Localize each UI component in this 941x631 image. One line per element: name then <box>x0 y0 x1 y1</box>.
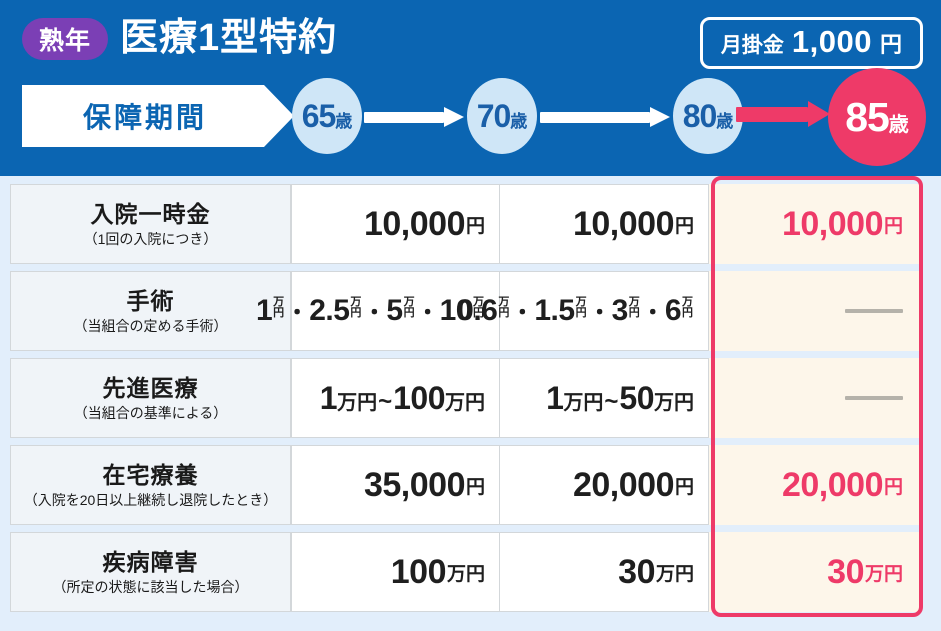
milestone-age-suffix: 歳 <box>716 84 733 160</box>
range-to-unit: 万円 <box>445 386 485 415</box>
value-unit: 円 <box>466 472 485 499</box>
table-row: 疾病障害 （所定の状態に該当した場合） 100万円 30万円 30万円 <box>10 532 931 612</box>
arrow-head <box>444 107 464 127</box>
coverage-timeline: 保障期間 65 歳 70 歳 80 歳 <box>0 78 941 174</box>
value-number: 3 <box>612 294 628 328</box>
benefit-sublabel: （当組合の基準による） <box>74 403 228 423</box>
value-separator: ・ <box>286 295 308 327</box>
arrow-head <box>650 107 670 127</box>
value-separator: ・ <box>363 295 385 327</box>
benefit-value-col2: 20,000円 <box>500 445 709 525</box>
milestone-age-suffix: 歳 <box>335 84 352 160</box>
milestone-age-number: 70 <box>477 78 511 154</box>
milestone-age-suffix: 歳 <box>889 76 909 174</box>
benefit-value-col1: 100万円 <box>291 532 500 612</box>
value-unit-stacked: 万円 <box>498 297 509 319</box>
timeline-milestone-80: 80 歳 <box>673 78 743 154</box>
value-range: 1万円~50万円 <box>546 380 694 417</box>
value-separator: ・ <box>642 295 664 327</box>
value-number: 10,000 <box>782 205 883 244</box>
benefit-label: 手術 <box>127 287 175 315</box>
value-number: 0.6 <box>457 294 497 328</box>
benefit-value-col3-highlighted: 10,000円 <box>709 184 919 264</box>
benefit-label-cell: 入院一時金 （1回の入院につき） <box>10 184 291 264</box>
value-unit-stacked: 万円 <box>629 297 640 319</box>
value-unit: 円 <box>675 472 694 499</box>
monthly-premium-box: 月掛金 1,000 円 <box>700 17 923 69</box>
value-unit: 円 <box>884 211 903 238</box>
value-unit-stacked: 万円 <box>350 297 361 319</box>
unit-yen: 円 <box>498 308 509 319</box>
value-separator: ・ <box>589 295 611 327</box>
range-tilde: ~ <box>378 388 392 416</box>
arrow-shaft <box>364 112 444 123</box>
value-number: 20,000 <box>573 466 674 505</box>
benefit-value-col1: 10,000円 <box>291 184 500 264</box>
timeline-arrow-65-to-70-icon <box>364 107 464 127</box>
benefit-sublabel: （当組合の定める手術） <box>74 316 228 336</box>
timeline-milestone-65: 65 歳 <box>292 78 362 154</box>
benefit-sublabel: （所定の状態に該当した場合） <box>53 577 249 597</box>
range-tilde: ~ <box>604 388 618 416</box>
timeline-arrow-70-to-80-icon <box>540 107 670 127</box>
benefit-value-col3-highlighted: 20,000円 <box>709 445 919 525</box>
benefit-label-cell: 疾病障害 （所定の状態に該当した場合） <box>10 532 291 612</box>
benefit-value-col3-highlighted: 30万円 <box>709 532 919 612</box>
value-range: 1万円~100万円 <box>320 380 485 417</box>
value-separator: ・ <box>511 295 533 327</box>
value-number: 6 <box>665 294 681 328</box>
monthly-premium-label: 月掛金 <box>721 29 784 59</box>
value-unit: 円 <box>675 211 694 238</box>
unit-yen: 円 <box>629 308 640 319</box>
value-number: 2.5 <box>309 294 349 328</box>
value-unit: 万円 <box>656 559 694 586</box>
value-number: 10,000 <box>573 205 674 244</box>
value-number: 30 <box>827 553 864 592</box>
table-row: 入院一時金 （1回の入院につき） 10,000円 10,000円 10,000円 <box>10 184 931 264</box>
value-amount-list: 1万円・2.5万円・5万円・10万円 <box>256 294 485 328</box>
no-benefit-dash-icon <box>845 396 903 400</box>
benefit-value-col3-highlighted <box>709 271 919 351</box>
no-benefit-dash-icon <box>845 309 903 313</box>
unit-yen: 円 <box>404 308 415 319</box>
benefit-label-cell: 手術 （当組合の定める手術） <box>10 271 291 351</box>
unit-yen: 円 <box>350 308 361 319</box>
benefit-label-cell: 在宅療養 （入院を20日以上継続し退院したとき） <box>10 445 291 525</box>
benefit-label: 疾病障害 <box>103 548 199 576</box>
timeline-arrow-80-to-85-icon <box>736 104 830 124</box>
value-number: 1 <box>256 294 272 328</box>
unit-yen: 円 <box>576 308 587 319</box>
insurance-benefit-card: 熟年 医療1型特約 月掛金 1,000 円 保障期間 65 歳 70 歳 <box>0 0 941 631</box>
page-title: 医療1型特約 <box>120 12 337 64</box>
monthly-premium-unit: 円 <box>880 27 902 59</box>
coverage-period-banner: 保障期間 <box>22 85 294 147</box>
benefit-value-col2: 0.6万円・1.5万円・3万円・6万円 <box>500 271 709 351</box>
range-to-unit: 万円 <box>654 386 694 415</box>
value-amount-list: 0.6万円・1.5万円・3万円・6万円 <box>457 294 694 328</box>
arrow-shaft <box>540 112 650 123</box>
range-to-number: 50 <box>619 380 654 417</box>
value-number: 1.5 <box>534 294 574 328</box>
value-separator: ・ <box>417 295 439 327</box>
milestone-age-number: 80 <box>683 78 717 154</box>
value-unit: 万円 <box>447 559 485 586</box>
benefit-value-col1: 35,000円 <box>291 445 500 525</box>
range-from-unit: 万円 <box>563 386 603 415</box>
unit-yen: 円 <box>273 308 284 319</box>
value-number: 30 <box>618 553 655 592</box>
table-row: 手術 （当組合の定める手術） 1万円・2.5万円・5万円・10万円 0.6万円・… <box>10 271 931 351</box>
value-unit-stacked: 万円 <box>273 297 284 319</box>
milestone-age-number: 65 <box>302 78 336 154</box>
card-header: 熟年 医療1型特約 月掛金 1,000 円 保障期間 65 歳 70 歳 <box>0 0 941 176</box>
timeline-milestone-85: 85 歳 <box>828 68 926 166</box>
milestone-age-number: 85 <box>845 68 889 166</box>
value-unit-stacked: 万円 <box>682 297 693 319</box>
table-row: 在宅療養 （入院を20日以上継続し退院したとき） 35,000円 20,000円… <box>10 445 931 525</box>
value-unit: 万円 <box>865 559 903 586</box>
unit-yen: 円 <box>682 308 693 319</box>
range-from-unit: 万円 <box>337 386 377 415</box>
timeline-milestone-70: 70 歳 <box>467 78 537 154</box>
range-from-number: 1 <box>546 380 563 417</box>
benefit-label-cell: 先進医療 （当組合の基準による） <box>10 358 291 438</box>
benefit-label: 先進医療 <box>103 374 199 402</box>
value-number: 35,000 <box>364 466 465 505</box>
value-unit: 円 <box>884 472 903 499</box>
benefit-value-col2: 30万円 <box>500 532 709 612</box>
range-from-number: 1 <box>320 380 337 417</box>
table-row: 先進医療 （当組合の基準による） 1万円~100万円 1万円~50万円 <box>10 358 931 438</box>
header-top-bar: 熟年 医療1型特約 月掛金 1,000 円 <box>0 0 941 78</box>
benefit-sublabel: （1回の入院につき） <box>84 229 218 249</box>
monthly-premium-value: 1,000 <box>792 24 872 60</box>
benefit-value-col3-highlighted <box>709 358 919 438</box>
value-unit: 円 <box>466 211 485 238</box>
benefit-value-col2: 10,000円 <box>500 184 709 264</box>
milestone-age-suffix: 歳 <box>510 84 527 160</box>
benefit-label: 在宅療養 <box>103 461 199 489</box>
arrow-shaft <box>736 107 808 122</box>
benefit-table: 入院一時金 （1回の入院につき） 10,000円 10,000円 10,000円… <box>0 176 941 631</box>
value-unit-stacked: 万円 <box>576 297 587 319</box>
value-number: 10,000 <box>364 205 465 244</box>
value-unit-stacked: 万円 <box>404 297 415 319</box>
value-number: 20,000 <box>782 466 883 505</box>
value-number: 100 <box>391 553 446 592</box>
value-number: 5 <box>386 294 402 328</box>
benefit-sublabel: （入院を20日以上継続し退院したとき） <box>24 490 278 510</box>
arrow-head <box>808 101 830 127</box>
benefit-value-col2: 1万円~50万円 <box>500 358 709 438</box>
benefit-value-col1: 1万円~100万円 <box>291 358 500 438</box>
range-to-number: 100 <box>393 380 445 417</box>
plan-category-badge: 熟年 <box>22 18 108 60</box>
benefit-label: 入院一時金 <box>91 200 211 228</box>
